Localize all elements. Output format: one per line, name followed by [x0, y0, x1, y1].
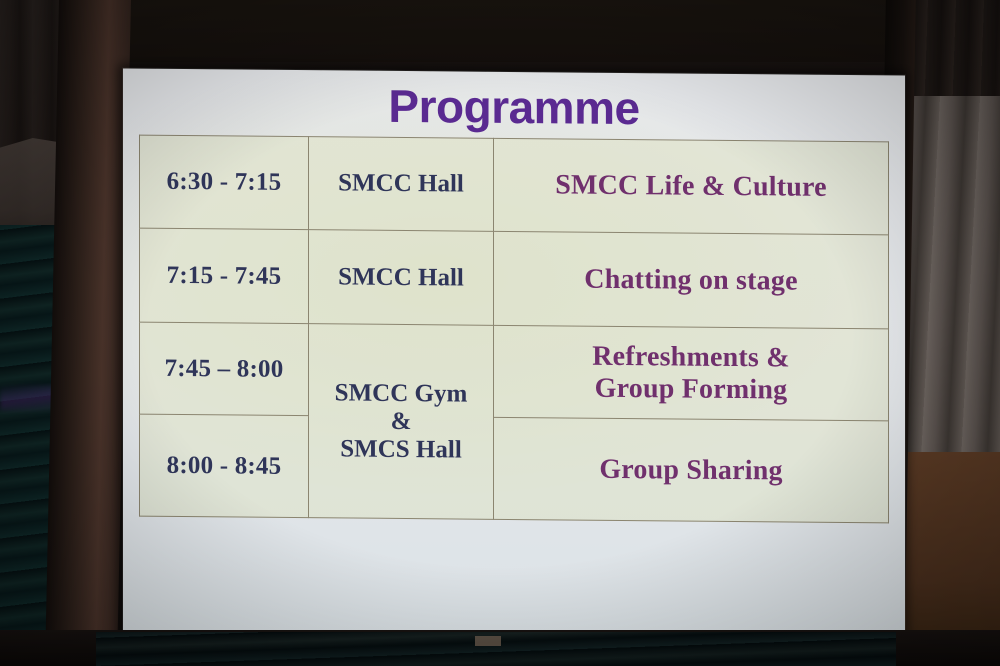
- table-row: 7:45 – 8:00 SMCC Gym & SMCS Hall Refresh…: [140, 322, 889, 421]
- table-row: 7:15 - 7:45 SMCC Hall Chatting on stage: [140, 228, 889, 329]
- cell-activity: Refreshments & Group Forming: [494, 325, 889, 421]
- cell-place-line-1: SMCC Gym: [310, 379, 492, 409]
- cell-activity-line-2: Group Forming: [495, 371, 887, 406]
- page-title: Programme: [123, 76, 905, 137]
- cell-place: SMCC Hall: [309, 230, 494, 326]
- right-curtain: [900, 96, 1000, 456]
- cell-time: 7:15 - 7:45: [140, 228, 309, 324]
- table-row: 8:00 - 8:45 Group Sharing: [140, 414, 889, 523]
- cell-place-merged: SMCC Gym & SMCS Hall: [309, 324, 494, 520]
- projection-screen: Programme 6:30 - 7:15 SMCC Hall SMCC Lif…: [123, 68, 905, 653]
- table-row: 6:30 - 7:15 SMCC Hall SMCC Life & Cultur…: [140, 135, 889, 235]
- cell-activity: Chatting on stage: [494, 231, 889, 329]
- cell-place-line-2: &: [310, 407, 492, 437]
- cell-time: 6:30 - 7:15: [140, 135, 309, 230]
- cell-activity: Group Sharing: [494, 417, 889, 523]
- ceiling-band: [0, 0, 1000, 62]
- cell-time: 8:00 - 8:45: [140, 414, 309, 518]
- cell-activity-line-1: Refreshments &: [495, 340, 887, 375]
- programme-table: 6:30 - 7:15 SMCC Hall SMCC Life & Cultur…: [139, 135, 889, 524]
- cell-place-line-3: SMCS Hall: [310, 435, 492, 465]
- photo-of-projected-slide: Programme 6:30 - 7:15 SMCC Hall SMCC Lif…: [0, 0, 1000, 666]
- cell-place: SMCC Hall: [309, 137, 494, 232]
- cell-activity: SMCC Life & Culture: [494, 138, 889, 235]
- cell-time: 7:45 – 8:00: [140, 322, 309, 416]
- screen-bottom-tab: [475, 636, 501, 646]
